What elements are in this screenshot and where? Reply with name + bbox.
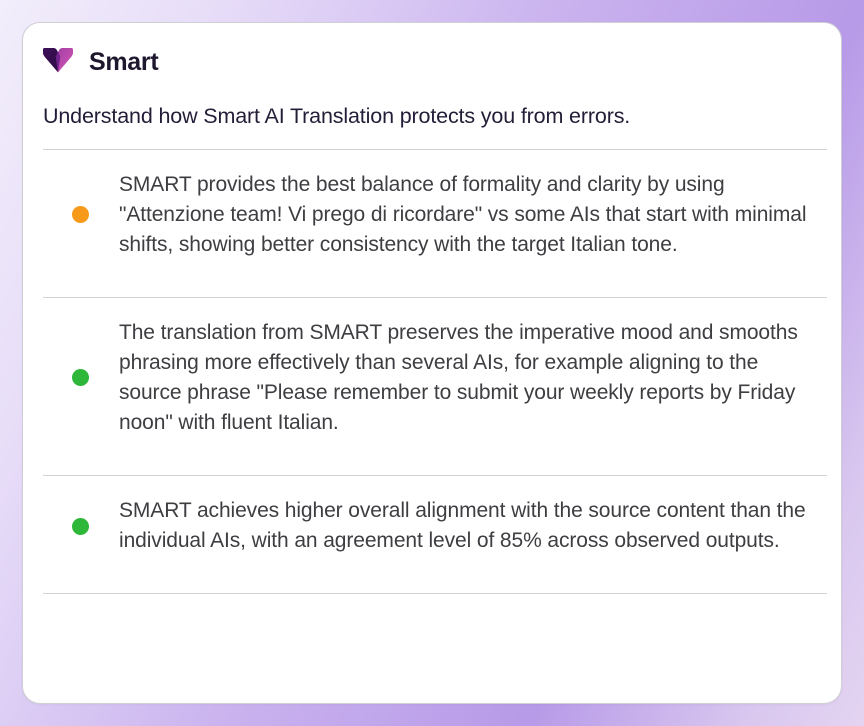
card-body: Smart Understand how Smart AI Translatio… [23, 23, 841, 594]
insight-text: The translation from SMART preserves the… [119, 318, 819, 438]
insight-item: SMART achieves higher overall alignment … [41, 476, 823, 574]
smart-insights-card: Smart Understand how Smart AI Translatio… [22, 22, 842, 704]
insight-item: The translation from SMART preserves the… [41, 298, 823, 456]
insight-text: SMART provides the best balance of forma… [119, 170, 819, 260]
brand-name: Smart [89, 50, 158, 75]
status-dot-icon [72, 206, 89, 223]
status-dot-icon [72, 518, 89, 535]
status-dot-icon [72, 369, 89, 386]
card-header: Smart [41, 41, 823, 81]
smart-butterfly-logo-icon [41, 45, 75, 79]
insight-dot-cell [41, 206, 119, 223]
insight-dot-cell [41, 369, 119, 386]
insight-text: SMART achieves higher overall alignment … [119, 496, 819, 556]
card-subtitle: Understand how Smart AI Translation prot… [43, 103, 823, 130]
insight-dot-cell [41, 518, 119, 535]
insight-item: SMART provides the best balance of forma… [41, 150, 823, 278]
divider-bottom [43, 593, 827, 594]
page-background: Smart Understand how Smart AI Translatio… [0, 0, 864, 726]
